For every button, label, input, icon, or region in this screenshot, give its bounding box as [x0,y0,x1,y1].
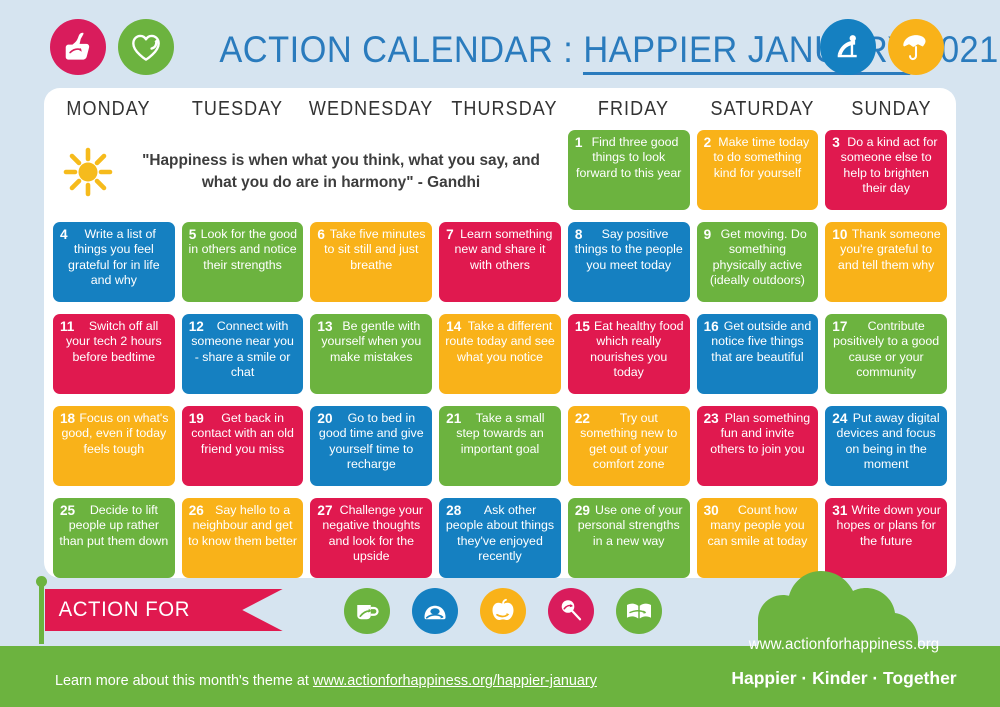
calendar-cell: 16Get outside and notice five things tha… [697,314,819,400]
day-action-text: Thank someone you're grateful to and tel… [831,227,941,273]
day-number: 12 [189,319,204,334]
day-card-25[interactable]: 25Decide to lift people up rather than p… [53,498,175,578]
day-action-text: Get outside and notice five things that … [703,319,813,365]
day-number: 5 [189,227,197,242]
calendar-cell: 25Decide to lift people up rather than p… [53,498,175,584]
day-card-6[interactable]: 6Take five minutes to sit still and just… [310,222,432,302]
calendar-cell: 23Plan something fun and invite others t… [697,406,819,492]
day-number: 23 [704,411,719,426]
day-number: 7 [446,227,454,242]
day-number: 24 [832,411,847,426]
day-action-text: Connect with someone near you - share a … [188,319,298,381]
calendar-cell: 21Take a small step towards an important… [439,406,561,492]
day-number: 27 [317,503,332,518]
day-card-16[interactable]: 16Get outside and notice five things tha… [697,314,819,394]
calendar-cell: 28Ask other people about things they've … [439,498,561,584]
calendar-cell: 10Thank someone you're grateful to and t… [825,222,947,308]
calendar-cell: 11Switch off all your tech 2 hours befor… [53,314,175,400]
day-card-28[interactable]: 28Ask other people about things they've … [439,498,561,578]
cloud-tagline: Happier · Kinder · Together [718,668,970,689]
day-number: 17 [832,319,847,334]
calendar-cell: 14Take a different route today and see w… [439,314,561,400]
day-card-11[interactable]: 11Switch off all your tech 2 hours befor… [53,314,175,394]
calendar-cell: 8Say positive things to the people you m… [568,222,690,308]
day-number: 13 [317,319,332,334]
day-number: 28 [446,503,461,518]
day-number: 3 [832,135,840,150]
day-card-21[interactable]: 21Take a small step towards an important… [439,406,561,486]
day-card-15[interactable]: 15Eat healthy food which really nourishe… [568,314,690,394]
day-number: 29 [575,503,590,518]
day-action-text: Take a different route today and see wha… [445,319,555,365]
calendar-cell: 19Get back in contact with an old friend… [182,406,304,492]
day-number: 2 [704,135,712,150]
day-action-text: Eat healthy food which really nourishes … [574,319,684,381]
calendar-cell-empty [53,130,175,216]
day-action-text: Take a small step towards an important g… [445,411,555,457]
calendar-cell: 2Make time today to do something kind fo… [697,130,819,216]
calendar-cell: 15Eat healthy food which really nourishe… [568,314,690,400]
calendar-cell: 1Find three good things to look forward … [568,130,690,216]
day-number: 14 [446,319,461,334]
calendar-cell: 17Contribute positively to a good cause … [825,314,947,400]
day-number: 15 [575,319,590,334]
cloud-website-url[interactable]: www.actionforhappiness.org [726,636,963,654]
calendar-cell: 18Focus on what's good, even if today fe… [53,406,175,492]
day-action-text: Make time today to do something kind for… [703,135,813,181]
calendar-grid: 1Find three good things to look forward … [53,130,947,584]
calendar-cell: 9Get moving. Do something physically act… [697,222,819,308]
day-action-text: Switch off all your tech 2 hours before … [59,319,169,365]
calendar-cell: 29Use one of your personal strengths in … [568,498,690,584]
day-action-text: Focus on what's good, even if today feel… [59,411,169,457]
day-number: 30 [704,503,719,518]
calendar-cell: 7Learn something new and share it with o… [439,222,561,308]
day-number: 6 [317,227,325,242]
page-header: ACTION CALENDAR : HAPPIER JANUARY 2021 [0,0,1000,88]
day-number: 1 [575,135,583,150]
heart-icon [118,19,174,75]
day-card-7[interactable]: 7Learn something new and share it with o… [439,222,561,302]
day-card-23[interactable]: 23Plan something fun and invite others t… [697,406,819,486]
calendar-cell: 6Take five minutes to sit still and just… [310,222,432,308]
day-number: 18 [60,411,75,426]
day-number: 8 [575,227,583,242]
action-for-happiness-banner: ACTION FOR HAPPINESS [45,589,283,631]
calendar-cell: 24Put away digital devices and focus on … [825,406,947,492]
day-card-13[interactable]: 13Be gentle with yourself when you make … [310,314,432,394]
slide-icon [820,19,876,75]
learn-more-link[interactable]: www.actionforhappiness.org/happier-janua… [313,673,597,689]
lolly-icon [548,588,594,634]
calendar-cell: 4Write a list of things you feel gratefu… [53,222,175,308]
day-number: 22 [575,411,590,426]
day-action-text: Get moving. Do something physically acti… [703,227,813,289]
calendar-cell-empty [310,130,432,216]
day-action-text: Say hello to a neighbour and get to know… [188,503,298,549]
calendar-cell: 27Challenge your negative thoughts and l… [310,498,432,584]
day-action-text: Do a kind act for someone else to help t… [831,135,941,197]
day-action-text: Go to bed in good time and give yourself… [316,411,426,473]
day-card-2[interactable]: 2Make time today to do something kind fo… [697,130,819,210]
day-action-text: Use one of your personal strengths in a … [574,503,684,549]
day-card-24[interactable]: 24Put away digital devices and focus on … [825,406,947,486]
day-card-22[interactable]: 22Try out something new to get out of yo… [568,406,690,486]
day-number: 25 [60,503,75,518]
day-number: 10 [832,227,847,242]
day-number: 26 [189,503,204,518]
day-card-12[interactable]: 12Connect with someone near you - share … [182,314,304,394]
calendar-cell: 13Be gentle with yourself when you make … [310,314,432,400]
day-header-friday: FRIDAY [576,98,692,132]
day-action-text: Count how many people you can smile at t… [703,503,813,549]
day-number: 21 [446,411,461,426]
day-action-text: Ask other people about things they've en… [445,503,555,565]
calendar-board: MONDAY TUESDAY WEDNESDAY THURSDAY FRIDAY… [44,88,956,578]
flagpole [39,582,44,644]
learn-more-text: Learn more about this month's theme at w… [55,673,597,689]
day-number: 16 [704,319,719,334]
day-card-19[interactable]: 19Get back in contact with an old friend… [182,406,304,486]
day-card-10[interactable]: 10Thank someone you're grateful to and t… [825,222,947,302]
day-action-text: Write down your hopes or plans for the f… [831,503,941,549]
calendar-cell-empty [439,130,561,216]
umbrella-icon [888,19,944,75]
day-card-4[interactable]: 4Write a list of things you feel gratefu… [53,222,175,302]
mug-icon [344,588,390,634]
day-action-text: Contribute positively to a good cause or… [831,319,941,381]
day-number: 19 [189,411,204,426]
day-number: 9 [704,227,712,242]
day-action-text: Challenge your negative thoughts and loo… [316,503,426,565]
day-header-sunday: SUNDAY [834,98,950,132]
calendar-cell: 22Try out something new to get out of yo… [568,406,690,492]
day-card-1[interactable]: 1Find three good things to look forward … [568,130,690,210]
day-action-text: Look for the good in others and notice t… [188,227,298,273]
day-card-20[interactable]: 20Go to bed in good time and give yourse… [310,406,432,486]
day-header-thursday: THURSDAY [447,98,563,132]
day-action-text: Put away digital devices and focus on be… [831,411,941,473]
action-calendar-page: ACTION CALENDAR : HAPPIER JANUARY 2021 M… [0,0,1000,707]
day-action-text: Write a list of things you feel grateful… [59,227,169,289]
day-number: 31 [832,503,847,518]
day-card-26[interactable]: 26Say hello to a neighbour and get to kn… [182,498,304,578]
day-action-text: Get back in contact with an old friend y… [188,411,298,457]
day-card-18[interactable]: 18Focus on what's good, even if today fe… [53,406,175,486]
day-card-5[interactable]: 5Look for the good in others and notice … [182,222,304,302]
day-card-27[interactable]: 27Challenge your negative thoughts and l… [310,498,432,578]
day-headers-row: MONDAY TUESDAY WEDNESDAY THURSDAY FRIDAY… [44,98,956,132]
calendar-cell: 5Look for the good in others and notice … [182,222,304,308]
day-card-8[interactable]: 8Say positive things to the people you m… [568,222,690,302]
apple-icon [480,588,526,634]
day-action-text: Decide to lift people up rather than put… [59,503,169,549]
day-action-text: Say positive things to the people you me… [574,227,684,273]
day-header-tuesday: TUESDAY [179,98,295,132]
thumbs-up-icon [50,19,106,75]
calendar-cell-empty [182,130,304,216]
day-header-monday: MONDAY [50,98,166,132]
day-header-saturday: SATURDAY [705,98,821,132]
day-number: 11 [60,319,74,334]
day-action-text: Plan something fun and invite others to … [703,411,813,457]
calendar-cell: 20Go to bed in good time and give yourse… [310,406,432,492]
day-action-text: Try out something new to get out of your… [574,411,684,473]
day-card-14[interactable]: 14Take a different route today and see w… [439,314,561,394]
day-number: 4 [60,227,68,242]
day-header-wednesday: WEDNESDAY [309,98,433,132]
calendar-cell: 26Say hello to a neighbour and get to kn… [182,498,304,584]
calendar-cell: 3Do a kind act for someone else to help … [825,130,947,216]
day-card-29[interactable]: 29Use one of your personal strengths in … [568,498,690,578]
book-icon [616,588,662,634]
page-title: ACTION CALENDAR : HAPPIER JANUARY 2021 [219,24,786,76]
day-action-text: Take five minutes to sit still and just … [316,227,426,273]
learn-more-prefix: Learn more about this month's theme at [55,673,313,689]
title-prefix: ACTION CALENDAR : [219,29,573,70]
day-action-text: Find three good things to look forward t… [574,135,684,181]
day-number: 20 [317,411,332,426]
day-card-3[interactable]: 3Do a kind act for someone else to help … [825,130,947,210]
calendar-cell: 12Connect with someone near you - share … [182,314,304,400]
phone-icon [412,588,458,634]
day-card-17[interactable]: 17Contribute positively to a good cause … [825,314,947,394]
day-action-text: Learn something new and share it with ot… [445,227,555,273]
day-card-9[interactable]: 9Get moving. Do something physically act… [697,222,819,302]
